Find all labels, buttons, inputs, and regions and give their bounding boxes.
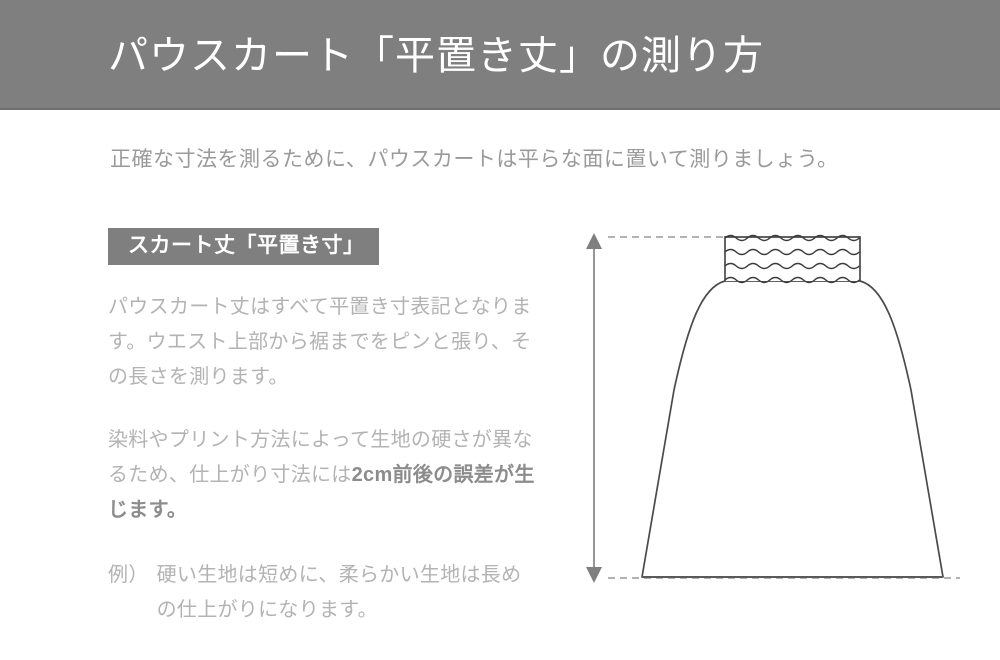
waistband-outline (725, 237, 860, 281)
measure-arrow-head-up (586, 233, 602, 249)
example-note-text: 硬い生地は短めに、柔らかい生地は長めの仕上がりになります。 (157, 558, 538, 628)
example-marker-label: 例） (108, 558, 157, 628)
paragraph-measurement-basis: パウスカート丈はすべて平置き寸表記となります。ウエスト上部から裾までをピンと張り… (108, 290, 538, 395)
header-bar: パウスカート「平置き丈」の測り方 (0, 0, 1000, 110)
measure-arrow-head-down (586, 567, 602, 583)
section-heading-banner: スカート丈「平置き寸」 (108, 228, 379, 265)
page-title: パウスカート「平置き丈」の測り方 (108, 34, 764, 78)
skirt-body-outline (642, 281, 943, 577)
paragraph-tolerance: 染料やプリント方法によって生地の硬さが異なるため、仕上がり寸法には2cm前後の誤… (108, 423, 538, 528)
intro-instruction-text: 正確な寸法を測るために、パウスカートは平らな面に置いて測りましょう。 (110, 145, 838, 175)
skirt-diagram-svg (570, 215, 970, 605)
skirt-measurement-illustration (570, 215, 970, 605)
instruction-column: スカート丈「平置き寸」 パウスカート丈はすべて平置き寸表記となります。ウエスト上… (108, 228, 538, 628)
example-note: 例） 硬い生地は短めに、柔らかい生地は長めの仕上がりになります。 (108, 558, 538, 628)
